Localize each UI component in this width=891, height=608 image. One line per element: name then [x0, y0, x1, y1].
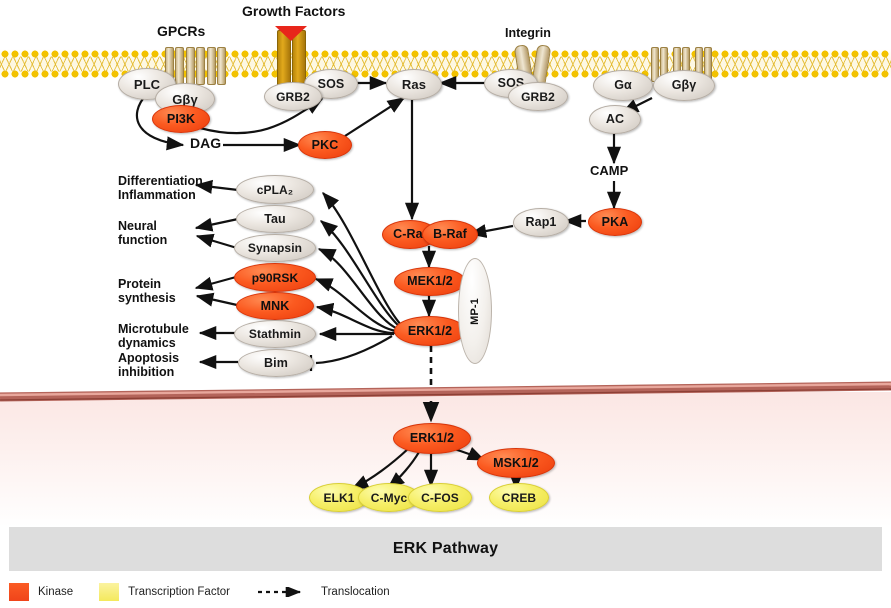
- label-camp: CAMP: [590, 164, 628, 179]
- growth-factor-ligand-icon: [275, 26, 307, 41]
- node-synapsin[interactable]: Synapsin: [234, 234, 316, 262]
- node-ac[interactable]: AC: [589, 105, 641, 134]
- node-rap1[interactable]: Rap1: [513, 208, 569, 237]
- node-gbetagamma-right[interactable]: Gβγ: [653, 70, 715, 101]
- transcription-factor-swatch-icon: [99, 583, 119, 601]
- kinase-swatch-icon: [9, 583, 29, 601]
- node-creb[interactable]: CREB: [489, 483, 549, 512]
- label-integrin: Integrin: [505, 26, 551, 40]
- legend-item-kinase: Kinase: [9, 583, 73, 601]
- outcome-protein-synthesis: Protein synthesis: [118, 277, 176, 305]
- legend-label-translocation: Translocation: [321, 586, 390, 598]
- node-cpla2[interactable]: cPLA₂: [236, 175, 314, 204]
- node-ras[interactable]: Ras: [386, 69, 442, 100]
- node-pi3k[interactable]: PI3K: [152, 105, 210, 133]
- node-bim[interactable]: Bim: [238, 349, 314, 377]
- node-c-fos[interactable]: C-FOS: [408, 483, 472, 512]
- node-msk1-2[interactable]: MSK1/2: [477, 448, 555, 478]
- node-mp1-scaffold[interactable]: MP-1: [458, 258, 492, 364]
- label-gpcrs: GPCRs: [157, 24, 205, 40]
- label-dag: DAG: [190, 136, 221, 152]
- node-stathmin[interactable]: Stathmin: [234, 320, 316, 348]
- legend-item-transcription-factor: Transcription Factor: [99, 583, 230, 601]
- node-b-raf[interactable]: B-Raf: [422, 220, 478, 249]
- node-pkc[interactable]: PKC: [298, 131, 352, 159]
- node-tau[interactable]: Tau: [236, 205, 314, 233]
- label-growth-factors: Growth Factors: [242, 4, 345, 20]
- node-mnk[interactable]: MNK: [236, 292, 314, 320]
- legend-label-transcription-factor: Transcription Factor: [128, 586, 230, 598]
- legend-label-kinase: Kinase: [38, 586, 73, 598]
- node-grb2-right[interactable]: GRB2: [508, 82, 568, 111]
- node-mp1-label: MP-1: [470, 298, 481, 325]
- node-pka[interactable]: PKA: [588, 208, 642, 236]
- legend: Kinase Transcription Factor Translocatio…: [9, 581, 882, 603]
- outcome-neural-function: Neural function: [118, 219, 167, 247]
- node-erk1-2-cytoplasm[interactable]: ERK1/2: [394, 316, 466, 346]
- dashed-arrow-icon: [256, 587, 312, 597]
- erk-pathway-diagram: GPCRs Growth Factors Integrin PLC Gβγ PI…: [0, 0, 891, 608]
- node-g-alpha[interactable]: Gα: [593, 70, 653, 101]
- pathway-title-banner: ERK Pathway: [9, 527, 882, 571]
- node-p90rsk[interactable]: p90RSK: [234, 263, 316, 292]
- outcome-microtubule-dynamics: Microtubule dynamics: [118, 322, 189, 350]
- page-title: ERK Pathway: [393, 540, 498, 558]
- legend-item-translocation: Translocation: [256, 586, 390, 598]
- outcome-apoptosis-inhibition: Apoptosis inhibition: [118, 351, 179, 379]
- node-mek1-2[interactable]: MEK1/2: [394, 267, 466, 296]
- node-erk1-2-nucleus[interactable]: ERK1/2: [393, 423, 471, 454]
- node-grb2-left[interactable]: GRB2: [264, 82, 322, 111]
- outcome-differentiation-inflammation: Differentiation Inflammation: [118, 174, 203, 202]
